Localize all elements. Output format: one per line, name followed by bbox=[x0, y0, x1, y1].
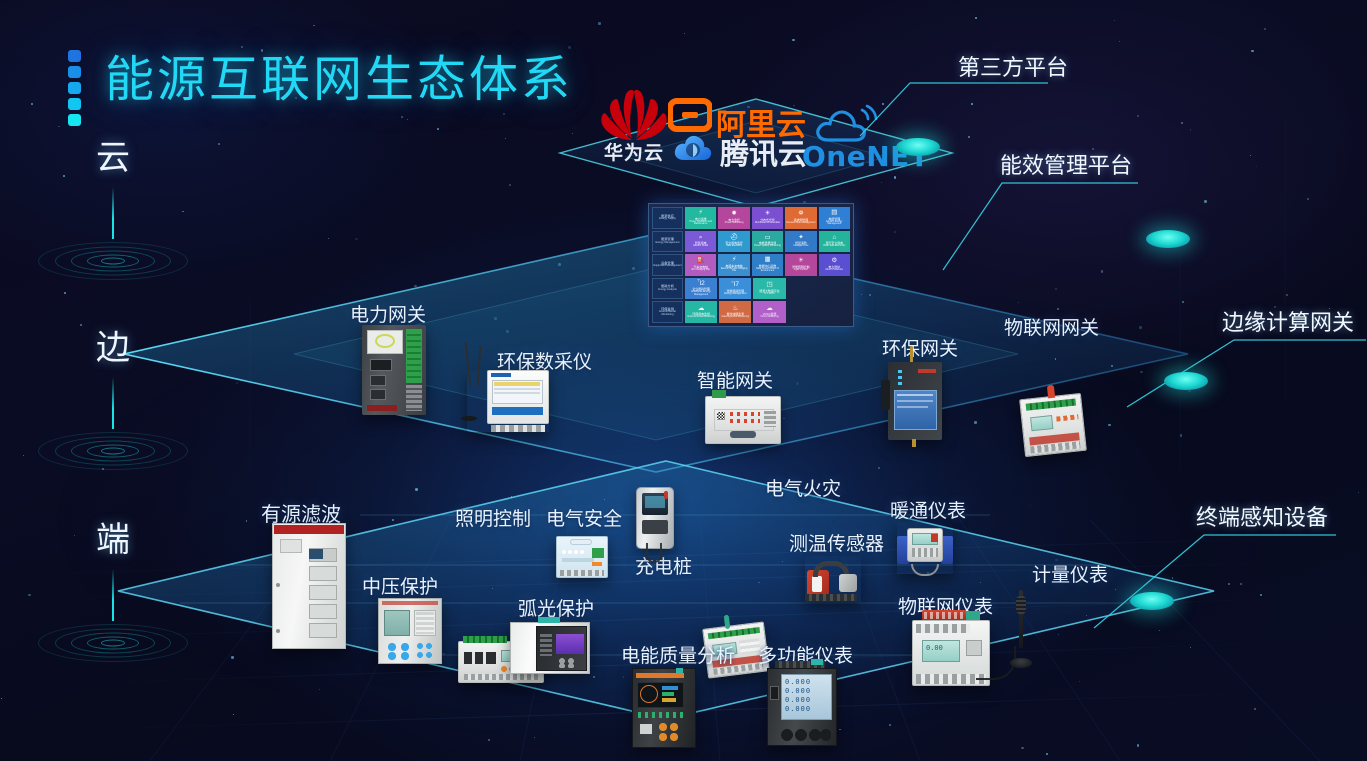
tencent-cloud-icon bbox=[672, 133, 714, 163]
tencent-cloud-logo: 腾讯云 bbox=[672, 133, 714, 168]
tile-icon: ⚡ bbox=[698, 210, 703, 217]
callout-label: 终端感知设备 bbox=[1196, 500, 1367, 532]
page-title: 能源互联网生态体系 bbox=[68, 40, 573, 126]
callout-edge-computing-gateway: 边缘计算网关 bbox=[1222, 305, 1367, 425]
particle bbox=[1021, 747, 1023, 749]
tile-label-en: Enterprise Energy Management bbox=[686, 291, 716, 296]
device-environmental-data-collector bbox=[467, 370, 549, 432]
platform-row: 能耗分析Energy AnalysisἾ2企业能耗管理Enterprise En… bbox=[652, 278, 850, 300]
platform-row-header: 能耗分析Energy Analysis bbox=[652, 278, 683, 300]
platform-tile[interactable]: ✹电力监控Power Monitoring bbox=[718, 207, 749, 229]
callout-label: 能效管理平台 bbox=[1000, 148, 1320, 180]
tile-icon: ⛑ bbox=[730, 235, 738, 242]
platform-tile[interactable]: ☀智能照明控制Light Control bbox=[785, 254, 816, 276]
tile-icon: Ἶ2 bbox=[697, 281, 704, 288]
label-iot-gateway: 物联网网关 bbox=[1004, 313, 1099, 340]
tile-label-en: Electric Energy Management bbox=[820, 221, 849, 226]
tile-label-en: Electric Bicycle Charging Pile bbox=[719, 268, 748, 273]
row-header-en: Energy Management bbox=[655, 242, 679, 245]
huawei-cloud-label: 华为云 bbox=[604, 138, 664, 165]
tile-label-en: Light Control bbox=[794, 269, 808, 272]
platform-tile[interactable]: ⛑安全用电监控Safe Electricity bbox=[718, 231, 749, 253]
tile-icon: ☁ bbox=[766, 306, 773, 313]
axis-edge: 边 bbox=[28, 320, 198, 473]
tile-label-en: Safe Electricity bbox=[726, 245, 742, 248]
ripple-icon bbox=[33, 239, 193, 283]
label-charging-pile: 充电桩 bbox=[635, 552, 692, 579]
axis-stem bbox=[112, 187, 114, 239]
particle bbox=[509, 184, 511, 186]
device-active-power-filter bbox=[272, 523, 346, 649]
tile-label-en: Power Operation and Maintenance bbox=[686, 221, 715, 226]
platform-tile[interactable]: ▦数据中心运维Data Center Room IS Environment bbox=[752, 254, 783, 276]
axis-cloud: 云 bbox=[28, 130, 198, 283]
device-charging-pile bbox=[636, 487, 674, 549]
platform-row-header: 能源供应Energy Supply bbox=[652, 207, 683, 229]
label-temperature-sensor: 测温传感器 bbox=[789, 529, 884, 556]
tile-label-en: Catering Fume Monitoring bbox=[721, 316, 749, 319]
particle bbox=[1119, 41, 1120, 42]
device-iot-meter-antenna bbox=[1010, 590, 1032, 668]
energy-platform-panel[interactable]: 能源供应Energy Supply⚡电力运维Power Operation an… bbox=[648, 203, 854, 327]
device-medium-voltage-protection bbox=[378, 598, 442, 664]
device-temperature-sensor bbox=[805, 556, 861, 602]
marker-third-party-platform[interactable] bbox=[896, 138, 940, 156]
tile-label-en: Demand Side Management bbox=[786, 222, 815, 225]
particle bbox=[684, 33, 685, 34]
title-marker-icon bbox=[68, 50, 81, 126]
tile-icon: Ἵ7 bbox=[732, 282, 739, 289]
particle bbox=[1046, 753, 1048, 755]
title-text: 能源互联网生态体系 bbox=[105, 40, 573, 111]
tile-icon: ◳ bbox=[766, 282, 772, 289]
platform-tile[interactable]: ⌂银行安全用电Bank Safe Electricity bbox=[819, 231, 850, 253]
tile-icon: ⚡ bbox=[732, 257, 737, 264]
tile-label-en: Data Center Room IS Environment bbox=[753, 268, 782, 273]
platform-tile[interactable]: ☁环保用电监测Environmental Monitoring bbox=[685, 301, 717, 323]
tencent-cloud-label: 腾讯云 bbox=[720, 131, 807, 173]
platform-tile[interactable]: ⚡电瓶车充电桩Electric Bicycle Charging Pile bbox=[718, 254, 749, 276]
label-electrical-safety: 电气安全 bbox=[546, 504, 622, 531]
particle bbox=[488, 739, 489, 740]
platform-row: 环保监测Environmental Monitoring☁环保用电监测Envir… bbox=[652, 301, 850, 323]
tile-icon: ▤ bbox=[831, 210, 837, 217]
particle bbox=[598, 22, 601, 25]
row-header-en: Energy Analysis bbox=[658, 289, 676, 292]
tile-label-en: Power Quality Monitoring bbox=[754, 245, 781, 248]
tile-label-en: VOCs Monitoring bbox=[760, 316, 778, 319]
tile-label-en: Bank Safe Electricity bbox=[823, 245, 845, 248]
callout-terminal-sensing-device: 终端感知设备 bbox=[1196, 500, 1367, 630]
platform-tile[interactable]: ⚙电力防护Motor Protection bbox=[819, 254, 850, 276]
tile-label-en: Energy Management bbox=[724, 293, 746, 296]
platform-tile[interactable]: ⌕智慧用电Electric Cloud bbox=[685, 231, 716, 253]
row-header-en: Environmental Monitoring bbox=[653, 311, 682, 316]
particle bbox=[1286, 294, 1288, 296]
callout-third-party-platform: 第三方平台 bbox=[958, 50, 1258, 160]
platform-tile-empty bbox=[820, 301, 850, 323]
particle bbox=[1358, 492, 1359, 493]
particle bbox=[218, 143, 219, 144]
tile-label-en: ICT DATA bbox=[764, 293, 775, 296]
particle bbox=[1264, 28, 1266, 30]
label-lighting-control: 照明控制 bbox=[455, 504, 531, 531]
row-header-en: Equipment Management bbox=[653, 265, 681, 268]
platform-row: 能源供应Energy Supply⚡电力运维Power Operation an… bbox=[652, 207, 850, 229]
callout-energy-efficiency-platform: 能效管理平台 bbox=[1000, 148, 1320, 278]
device-smart-gateway bbox=[705, 396, 781, 444]
particle bbox=[975, 17, 977, 19]
device-environmental-gateway bbox=[888, 362, 942, 440]
device-iot-gateway bbox=[1019, 393, 1087, 457]
axis-label-cloud: 云 bbox=[28, 130, 198, 179]
marker-edge-computing-gateway[interactable] bbox=[1164, 372, 1208, 390]
device-hvac-meter bbox=[897, 522, 953, 574]
platform-tile[interactable]: ⛯需求侧管理Demand Side Management bbox=[785, 207, 816, 229]
platform-tile[interactable]: ⛽汽车充电桩EV Charging Pile bbox=[685, 254, 716, 276]
axis-stem bbox=[112, 377, 114, 429]
particle bbox=[792, 39, 794, 41]
tile-icon: ⌕ bbox=[699, 235, 703, 242]
particle bbox=[313, 25, 315, 27]
platform-row: 能源管理Energy Management⌕智慧用电Electric Cloud… bbox=[652, 231, 850, 253]
onenet-logo: OneNET bbox=[812, 104, 882, 153]
particle bbox=[534, 737, 535, 738]
particle bbox=[437, 128, 439, 130]
label-hvac-meter: 暖通仪表 bbox=[890, 496, 966, 523]
device-electrical-safety bbox=[556, 536, 608, 578]
label-metering-instrument: 计量仪表 bbox=[1032, 560, 1108, 587]
row-header-en: Energy Supply bbox=[659, 218, 676, 221]
marker-energy-efficiency-platform[interactable] bbox=[1146, 230, 1190, 248]
particle bbox=[1137, 744, 1139, 746]
tile-label-en: Electric Cloud bbox=[693, 245, 708, 248]
callout-label: 边缘计算网关 bbox=[1222, 305, 1367, 337]
tile-icon: ▭ bbox=[764, 235, 770, 242]
platform-tile[interactable]: ☁VOCs监测VOCs Monitoring bbox=[753, 301, 785, 323]
platform-tile-empty bbox=[788, 278, 818, 300]
particle bbox=[505, 138, 506, 139]
axis-terminal: 端 bbox=[28, 512, 198, 665]
infographic-canvas: 能源互联网生态体系 bbox=[0, 0, 1367, 761]
device-power-gateway bbox=[362, 325, 426, 415]
tile-icon: ⚙ bbox=[831, 258, 837, 265]
tile-label-en: Motor Protection bbox=[826, 269, 844, 272]
platform-tile-empty bbox=[820, 278, 850, 300]
label-smart-gateway: 智能网关 bbox=[697, 366, 773, 393]
tile-icon: ☀ bbox=[765, 211, 771, 218]
tile-icon: ⛯ bbox=[798, 211, 803, 218]
particle bbox=[1254, 708, 1256, 710]
platform-tile[interactable]: Ἶ2企业能耗管理Enterprise Energy Management bbox=[685, 278, 717, 300]
tile-icon: ⛽ bbox=[697, 258, 705, 265]
huawei-cloud-logo: 华为云 bbox=[598, 88, 670, 151]
platform-tile[interactable]: ☀分布式光伏Distributed Photovoltaic bbox=[752, 207, 783, 229]
device-power-quality-analysis bbox=[632, 668, 696, 748]
platform-tile-empty bbox=[788, 301, 818, 323]
platform-row-header: 环保监测Environmental Monitoring bbox=[652, 301, 683, 323]
ripple-icon bbox=[33, 621, 193, 665]
platform-tile[interactable]: ▤电能管理Electric Energy Management bbox=[819, 207, 850, 229]
tile-label-en: Environmental Monitoring bbox=[688, 316, 715, 319]
axis-label-edge: 边 bbox=[28, 320, 198, 369]
tile-icon: ✹ bbox=[731, 211, 736, 218]
platform-tile[interactable]: ♨餐饮油烟监测Catering Fume Monitoring bbox=[719, 301, 751, 323]
tile-icon: ✦ bbox=[798, 235, 803, 242]
label-power-gateway: 电力网关 bbox=[350, 300, 426, 327]
platform-tile[interactable]: Ἵ7建筑能耗管理Energy Management bbox=[719, 278, 751, 300]
platform-tile[interactable]: ⚡电力运维Power Operation and Maintenance bbox=[685, 207, 716, 229]
particle bbox=[23, 455, 24, 456]
alibaba-bracket-icon bbox=[668, 98, 712, 132]
particle bbox=[1114, 20, 1115, 21]
tile-icon: ☀ bbox=[798, 258, 804, 265]
tile-label-en: Power Monitoring bbox=[725, 222, 744, 225]
platform-row-header: 设备管理Equipment Management bbox=[652, 254, 683, 276]
axis-stem bbox=[112, 569, 114, 621]
tile-icon: ♨ bbox=[732, 306, 738, 313]
tile-label-en: Intelligent Fire bbox=[793, 245, 808, 248]
platform-tile[interactable]: ◳能源大数据平台ICT DATA bbox=[753, 278, 785, 300]
platform-tile[interactable]: ▭电能质量监测Power Quality Monitoring bbox=[752, 231, 783, 253]
alibaba-cloud-logo: 阿里云 bbox=[668, 98, 712, 137]
label-power-quality-analysis: 电能质量分析 bbox=[621, 641, 735, 668]
ripple-icon bbox=[33, 429, 193, 473]
platform-tile[interactable]: ✦智慧消防Intelligent Fire bbox=[785, 231, 816, 253]
axis-label-terminal: 端 bbox=[28, 512, 198, 561]
particle bbox=[1, 698, 2, 699]
platform-row: 设备管理Equipment Management⛽汽车充电桩EV Chargin… bbox=[652, 254, 850, 276]
device-iot-meter: 0.00 bbox=[912, 620, 990, 686]
tile-icon: ▦ bbox=[764, 257, 770, 264]
tile-label-en: EV Charging Pile bbox=[692, 269, 710, 272]
particle bbox=[839, 729, 840, 730]
tile-icon: ⌂ bbox=[832, 235, 836, 242]
marker-terminal-sensing-device[interactable] bbox=[1130, 592, 1174, 610]
particle bbox=[64, 292, 66, 294]
label-medium-voltage-protection: 中压保护 bbox=[362, 572, 438, 599]
particle bbox=[31, 103, 33, 105]
device-arc-flash-protection bbox=[510, 622, 590, 674]
device-multifunction-meter: 0.0000.0000.0000.000 bbox=[767, 668, 837, 746]
tile-label-en: Distributed Photovoltaic bbox=[755, 222, 780, 225]
tile-icon: ☁ bbox=[698, 306, 705, 313]
label-electrical-fire: 电气火灾 bbox=[765, 474, 841, 501]
platform-row-header: 能源管理Energy Management bbox=[652, 231, 683, 253]
particle bbox=[58, 126, 59, 127]
label-environmental-gateway: 环保网关 bbox=[882, 334, 958, 361]
